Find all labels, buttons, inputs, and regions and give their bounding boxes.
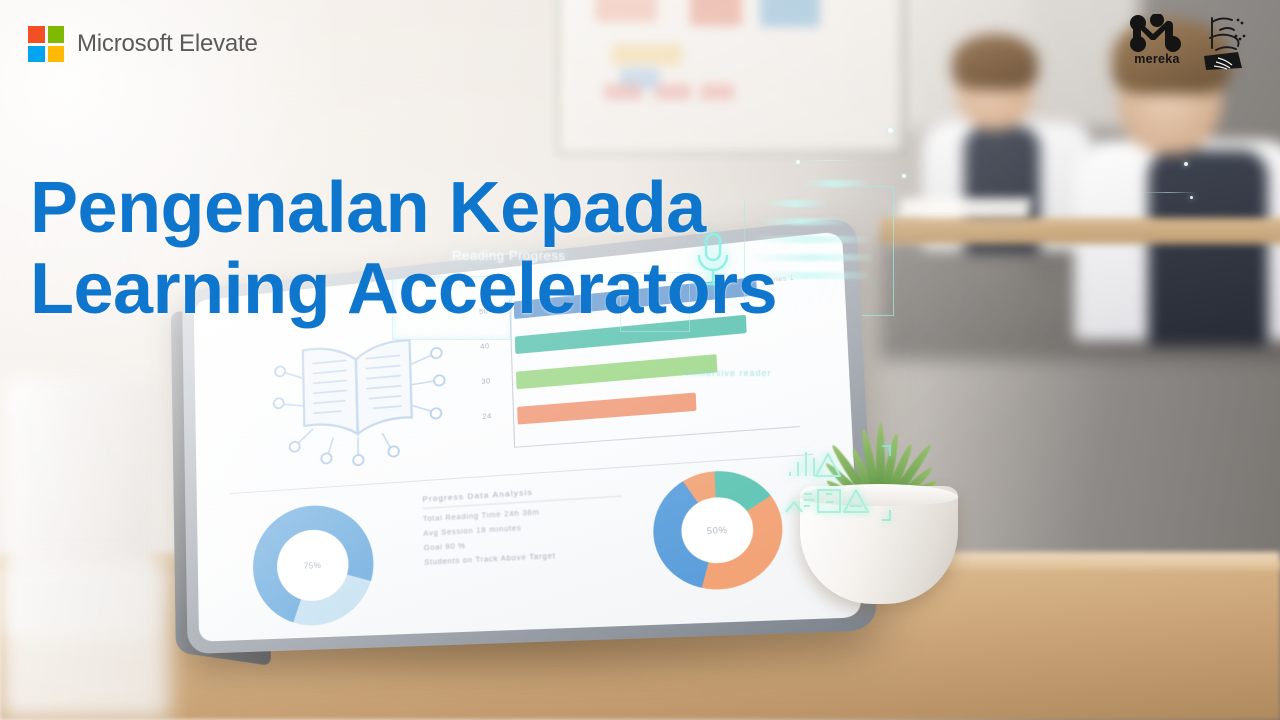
summary-heading: Progress Data Analysis (422, 482, 621, 509)
completion-donut-chart: 75% (252, 502, 375, 628)
page-title: Pengenalan Kepada Learning Accelerators (30, 168, 930, 329)
potted-plant (788, 398, 978, 608)
microsoft-logo-icon (28, 26, 64, 62)
background-desk-surface (880, 218, 1280, 244)
summary-line: Students on Track Above Target (424, 549, 624, 567)
red-square (28, 26, 45, 43)
title-line-2: Learning Accelerators (30, 249, 930, 330)
whiteboard-note (760, 0, 820, 27)
chart-y-tick: 40 (480, 343, 489, 351)
partner-jawi-logo (1198, 10, 1260, 76)
chart-y-tick: 24 (482, 413, 491, 421)
blue-square (28, 46, 45, 63)
microsoft-elevate-wordmark: Microsoft Elevate (77, 30, 258, 58)
donut-center-value: 50% (707, 525, 728, 536)
green-square (48, 26, 65, 43)
mereka-logo: mereka (1126, 14, 1188, 76)
yellow-square (48, 46, 65, 63)
title-line-1: Pengenalan Kepada (30, 168, 706, 248)
segment-donut-chart: 50% (651, 467, 785, 592)
bar-series-4 (517, 393, 696, 425)
whiteboard-note (690, 0, 742, 26)
whiteboard-note (700, 84, 734, 100)
open-book-network-icon (264, 308, 453, 475)
presentation-slide: 50 40 30 24 Series 1 (0, 0, 1280, 720)
whiteboard-note (604, 84, 642, 100)
mereka-mark-icon (1129, 14, 1185, 54)
foreground-object (0, 560, 170, 720)
plant-pot-rim (800, 484, 958, 506)
whiteboard-note (595, 0, 657, 22)
summary-line: Goal 80 % (424, 534, 624, 552)
bar-series-3 (516, 354, 717, 389)
chart-x-axis (514, 426, 800, 448)
chart-y-tick: 30 (481, 378, 490, 386)
donut-center-value: 75% (304, 560, 322, 570)
whiteboard-note (612, 44, 682, 66)
whiteboard-note (655, 84, 691, 100)
mereka-wordmark: mereka (1126, 52, 1188, 66)
progress-summary-panel: Progress Data Analysis Total Reading Tim… (422, 482, 624, 567)
microsoft-elevate-logo: Microsoft Elevate (28, 26, 258, 62)
